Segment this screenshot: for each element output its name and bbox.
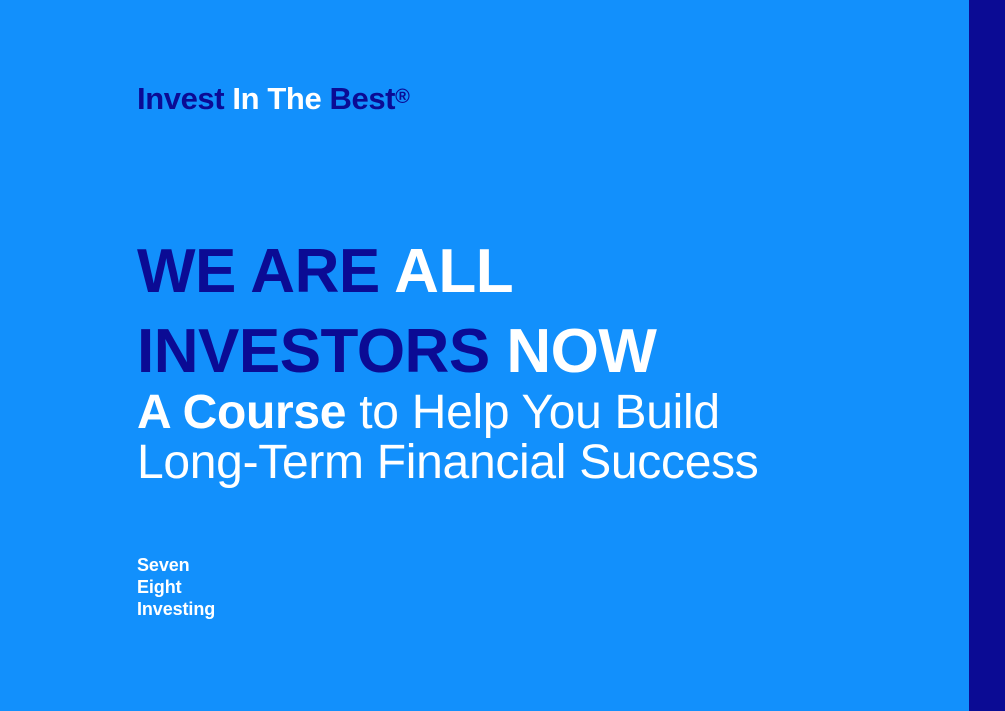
headline-line-1-white: ALL	[394, 237, 513, 306]
headline-line-1: WE ARE ALL	[137, 232, 957, 312]
subheadline: A Course to Help You Build Long-Term Fin…	[137, 388, 957, 488]
headline-line-2-navy: INVESTORS	[137, 317, 490, 386]
footer-wordmark-line-3: Investing	[137, 598, 215, 620]
brand-word-invest: Invest	[137, 81, 224, 116]
footer-wordmark: Seven Eight Investing	[137, 554, 215, 620]
footer-wordmark-line-1: Seven	[137, 554, 215, 576]
subheadline-line-2: Long-Term Financial Success	[137, 438, 957, 488]
footer-wordmark-line-2: Eight	[137, 576, 215, 598]
headline-line-2: INVESTORS NOW	[137, 312, 957, 392]
subheadline-line-1: A Course to Help You Build	[137, 388, 957, 438]
subheadline-emphasis: A Course	[137, 386, 346, 439]
brand-word-in-the: In The	[232, 81, 321, 116]
headline-line-1-navy: WE ARE	[137, 237, 380, 306]
brand-word-best: Best	[330, 81, 396, 116]
subheadline-line-1-rest: to Help You Build	[346, 386, 720, 439]
headline-line-2-white: NOW	[506, 317, 656, 386]
headline: WE ARE ALL INVESTORS NOW	[137, 232, 957, 392]
slide-content: Invest In The Best® WE ARE ALL INVESTORS…	[137, 0, 957, 711]
right-accent-bar	[969, 0, 1005, 711]
registered-trademark-icon: ®	[395, 86, 410, 108]
brand-logo: Invest In The Best®	[137, 83, 410, 114]
slide-canvas: Invest In The Best® WE ARE ALL INVESTORS…	[0, 0, 1005, 711]
